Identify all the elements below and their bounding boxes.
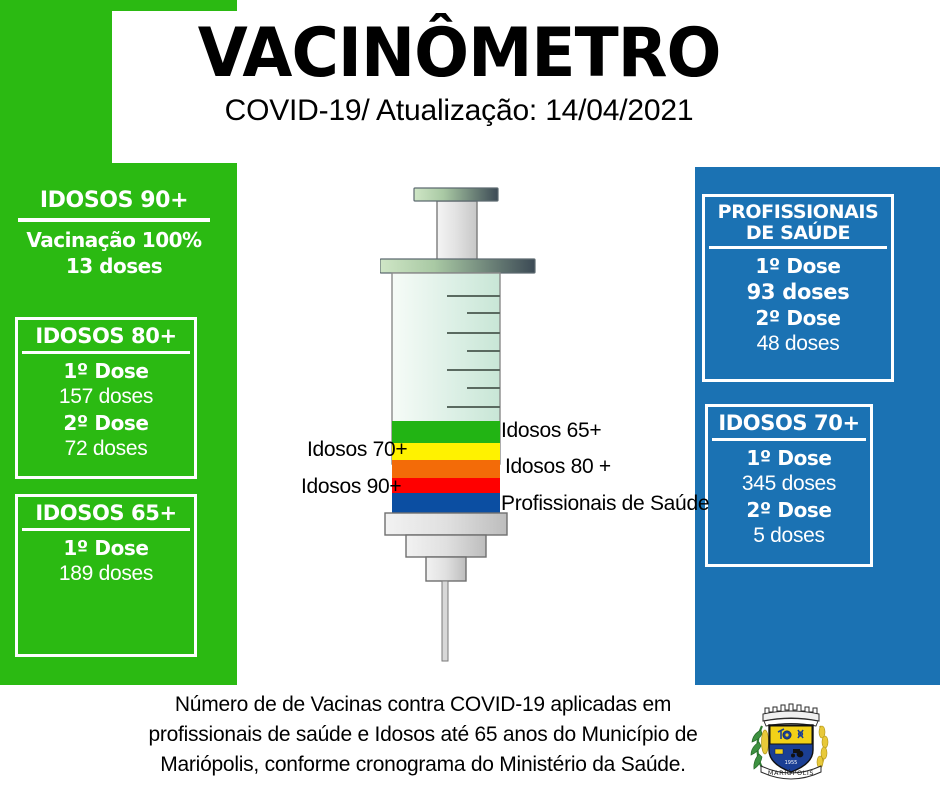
band-idosos-65	[392, 421, 500, 443]
syringe-thumb-flange	[414, 188, 498, 201]
footer-description: Número de de Vacinas contra COVID-19 apl…	[118, 690, 728, 779]
syringe-finger-flange	[380, 259, 535, 273]
idosos-80-dose-1-label: 1º Dose	[18, 359, 194, 384]
syringe-base-cap	[385, 513, 507, 535]
page-subtitle: COVID-19/ Atualização: 14/04/2021	[225, 94, 694, 128]
syringe-plunger-rod	[437, 201, 477, 261]
mariopolis-coat-of-arms-icon: 1955 MARIÓPOLIS	[745, 692, 837, 782]
syringe-neck-upper	[406, 535, 486, 557]
card-idosos-65-body: 1º Dose 189 doses	[18, 531, 194, 588]
idosos-90-vaccination-rate: Vacinação 100%	[14, 228, 214, 254]
footer-line-3: Mariópolis, conforme cronograma do Minis…	[118, 750, 728, 780]
idosos-70-dose-1-value: 345 doses	[708, 471, 870, 498]
band-idosos-90	[392, 478, 500, 493]
card-profissionais-heading-line2: DE SAÚDE	[711, 223, 885, 244]
idosos-90-divider	[18, 218, 210, 222]
footer-line-1: Número de de Vacinas contra COVID-19 apl…	[118, 690, 728, 720]
band-profissionais	[392, 493, 500, 513]
syringe-needle	[442, 581, 448, 661]
idosos-65-dose-1-value: 189 doses	[18, 561, 194, 588]
card-idosos-70: IDOSOS 70+ 1º Dose 345 doses 2º Dose 5 d…	[705, 404, 873, 567]
crest-corn-stalk-icon	[751, 726, 769, 770]
callout-idosos-80: Idosos 80 +	[505, 455, 611, 479]
idosos-90-doses: 13 doses	[14, 254, 214, 280]
card-idosos-80-heading: IDOSOS 80+	[22, 320, 190, 354]
idosos-65-dose-1-label: 1º Dose	[18, 536, 194, 561]
syringe-needle-hub	[426, 557, 466, 581]
crest-wheat-stalk-icon	[817, 726, 828, 770]
profissionais-dose-2-label: 2º Dose	[705, 306, 891, 331]
idosos-80-dose-2-value: 72 doses	[18, 436, 194, 463]
svg-text:1955: 1955	[785, 760, 798, 766]
profissionais-dose-1-label: 1º Dose	[705, 254, 891, 279]
card-idosos-80: IDOSOS 80+ 1º Dose 157 doses 2º Dose 72 …	[15, 317, 197, 479]
band-idosos-80	[392, 460, 500, 478]
profissionais-dose-2-value: 48 doses	[705, 331, 891, 358]
card-idosos-80-body: 1º Dose 157 doses 2º Dose 72 doses	[18, 354, 194, 463]
idosos-70-dose-2-value: 5 doses	[708, 523, 870, 550]
band-idosos-70	[392, 443, 500, 460]
idosos-90-heading: IDOSOS 90+	[14, 188, 214, 217]
callout-idosos-90: Idosos 90+	[301, 475, 401, 499]
crest-banner-text: MARIÓPOLIS	[768, 768, 814, 777]
page-title: VACINÔMETRO	[198, 19, 721, 88]
crest-mural-crown	[763, 704, 819, 726]
profissionais-dose-1-value: 93 doses	[705, 279, 891, 306]
card-idosos-70-body: 1º Dose 345 doses 2º Dose 5 doses	[708, 441, 870, 550]
footer-line-2: profissionais de saúde e Idosos até 65 a…	[118, 720, 728, 750]
card-profissionais-body: 1º Dose 93 doses 2º Dose 48 doses	[705, 249, 891, 358]
card-idosos-65: IDOSOS 65+ 1º Dose 189 doses	[15, 494, 197, 657]
callout-idosos-65: Idosos 65+	[501, 419, 601, 443]
idosos-80-dose-2-label: 2º Dose	[18, 411, 194, 436]
idosos-80-dose-1-value: 157 doses	[18, 384, 194, 411]
callout-profissionais-saude: Profissionais de Saúde	[501, 492, 709, 516]
card-idosos-70-heading: IDOSOS 70+	[712, 407, 866, 441]
vacinometro-poster: VACINÔMETRO COVID-19/ Atualização: 14/04…	[0, 0, 940, 788]
idosos-70-dose-2-label: 2º Dose	[708, 498, 870, 523]
idosos-70-dose-1-label: 1º Dose	[708, 446, 870, 471]
idosos-90-block: IDOSOS 90+ Vacinação 100% 13 doses	[14, 188, 214, 279]
header-banner: VACINÔMETRO COVID-19/ Atualização: 14/04…	[112, 11, 806, 163]
card-profissionais-heading: PROFISSIONAIS DE SAÚDE	[709, 197, 887, 249]
card-idosos-65-heading: IDOSOS 65+	[22, 497, 190, 531]
card-profissionais-saude: PROFISSIONAIS DE SAÚDE 1º Dose 93 doses …	[702, 194, 894, 382]
callout-idosos-70: Idosos 70+	[307, 438, 407, 462]
card-profissionais-heading-line1: PROFISSIONAIS	[711, 202, 885, 223]
